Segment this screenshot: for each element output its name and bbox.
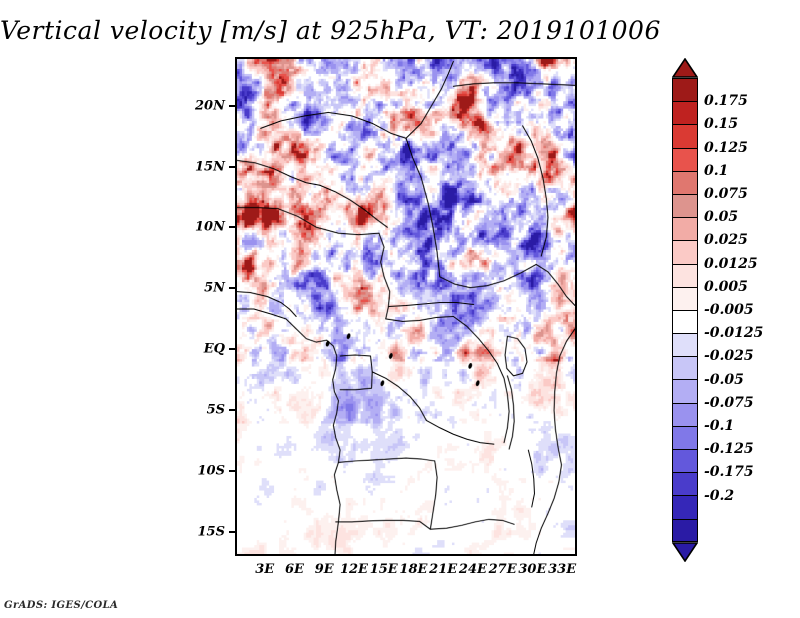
y-tick-label: 15S — [198, 524, 225, 539]
y-tick-label: 5S — [207, 402, 225, 417]
x-tick-label: 21E — [429, 562, 457, 577]
x-axis-labels: 3E6E9E12E15E18E21E24E27E30E33E — [235, 556, 577, 582]
x-tick-label: 12E — [340, 562, 368, 577]
colorbar-tick-label: 0.125 — [704, 140, 748, 156]
y-tick-mark — [229, 166, 236, 168]
colorbar-tick-label: -0.175 — [704, 464, 754, 480]
colorbar-tick-label: 0.05 — [704, 209, 738, 225]
x-tick-label: 15E — [370, 562, 398, 577]
colorbar-band — [672, 379, 698, 402]
y-tick-mark — [229, 348, 236, 350]
x-tick-label: 6E — [285, 562, 304, 577]
colorbar-band — [672, 194, 698, 217]
grads-plot-page: Vertical velocity [m/s] at 925hPa, VT: 2… — [0, 0, 800, 618]
colorbar-min-arrow-icon — [672, 542, 698, 562]
vertical-velocity-heatmap — [237, 59, 575, 554]
colorbar-band — [672, 472, 698, 495]
colorbar-tick-label: -0.05 — [704, 372, 744, 388]
y-axis-labels: 20N15N10N5NEQ5S10S15S — [190, 57, 232, 556]
colorbar-tick-label: 0.025 — [704, 232, 748, 248]
x-tick-label: 24E — [459, 562, 487, 577]
colorbar-band — [672, 519, 698, 542]
y-tick-label: 20N — [195, 98, 225, 113]
y-tick-mark — [229, 105, 236, 107]
colorbar-bands — [672, 78, 698, 542]
colorbar-tick-label: 0.005 — [704, 279, 748, 295]
colorbar-tick-label: 0.0125 — [704, 256, 758, 272]
y-tick-mark — [229, 226, 236, 228]
y-tick-label: 15N — [195, 159, 225, 174]
footer-credit: GrADS: IGES/COLA — [4, 600, 118, 611]
colorbar-tick-label: -0.025 — [704, 348, 754, 364]
y-tick-label: EQ — [204, 342, 225, 357]
colorbar-band — [672, 78, 698, 101]
colorbar-band — [672, 426, 698, 449]
colorbar-tick-label: -0.1 — [704, 418, 734, 434]
colorbar-band — [672, 403, 698, 426]
y-tick-mark — [229, 531, 236, 533]
colorbar-band — [672, 217, 698, 240]
colorbar-band — [672, 495, 698, 518]
y-tick-mark — [229, 470, 236, 472]
colorbar-band — [672, 240, 698, 263]
colorbar-tick-label: -0.075 — [704, 395, 754, 411]
colorbar: 0.1750.150.1250.10.0750.050.0250.01250.0… — [672, 60, 792, 560]
x-tick-label: 9E — [315, 562, 334, 577]
colorbar-band — [672, 101, 698, 124]
map-plot-area — [235, 57, 577, 556]
colorbar-max-arrow-icon — [672, 58, 698, 78]
colorbar-band — [672, 264, 698, 287]
page-title: Vertical velocity [m/s] at 925hPa, VT: 2… — [0, 16, 660, 45]
y-tick-label: 10N — [195, 220, 225, 235]
colorbar-tick-label: -0.005 — [704, 302, 754, 318]
colorbar-tick-label: -0.0125 — [704, 325, 763, 341]
y-tick-label: 5N — [204, 281, 225, 296]
colorbar-tick-label: 0.175 — [704, 93, 748, 109]
colorbar-tick-label: 0.1 — [704, 163, 728, 179]
colorbar-tick-label: -0.2 — [704, 488, 734, 504]
y-tick-mark — [229, 409, 236, 411]
colorbar-tick-label: -0.125 — [704, 441, 754, 457]
colorbar-band — [672, 171, 698, 194]
colorbar-band — [672, 449, 698, 472]
colorbar-band — [672, 287, 698, 310]
y-tick-mark — [229, 287, 236, 289]
x-tick-label: 27E — [489, 562, 517, 577]
x-tick-label: 30E — [518, 562, 546, 577]
x-tick-label: 33E — [548, 562, 576, 577]
y-tick-label: 10S — [198, 463, 225, 478]
colorbar-band — [672, 333, 698, 356]
colorbar-band — [672, 310, 698, 333]
colorbar-band — [672, 356, 698, 379]
x-tick-label: 3E — [255, 562, 274, 577]
x-tick-label: 18E — [399, 562, 427, 577]
colorbar-tick-label: 0.15 — [704, 116, 738, 132]
colorbar-band — [672, 148, 698, 171]
colorbar-tick-label: 0.075 — [704, 186, 748, 202]
colorbar-band — [672, 124, 698, 147]
